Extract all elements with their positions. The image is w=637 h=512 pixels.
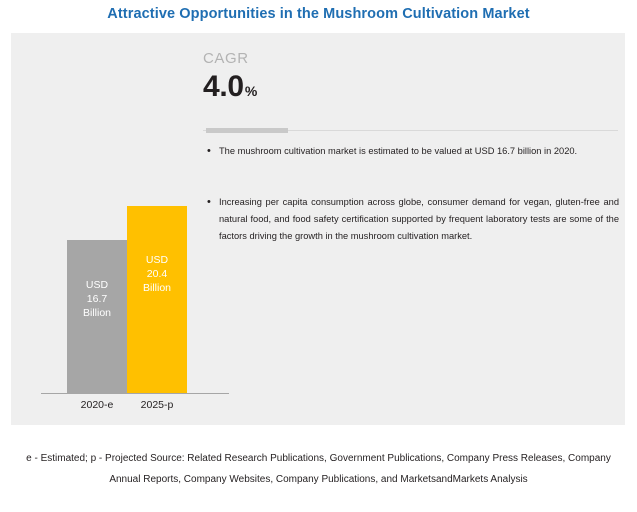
- bar-2025-p: USD 20.4 Billion: [127, 206, 187, 393]
- bullet-list: • The mushroom cultivation market is est…: [207, 143, 619, 245]
- cagr-unit: %: [245, 83, 257, 99]
- chart-x-axis: [41, 393, 229, 394]
- footer-source-note: e - Estimated; p - Projected Source: Rel…: [14, 448, 623, 490]
- cagr-label: CAGR: [203, 50, 433, 67]
- chart-plot-area: USD 16.7 Billion USD 20.4 Billion: [30, 163, 220, 393]
- tick-label-2025-p: 2025-p: [127, 399, 187, 411]
- list-item: • The mushroom cultivation market is est…: [207, 143, 619, 160]
- bar-2020-e: USD 16.7 Billion: [67, 240, 127, 393]
- cagr-value: 4.0: [203, 71, 244, 103]
- bar-value-label: USD 16.7 Billion: [83, 278, 111, 320]
- divider: [203, 128, 618, 134]
- cagr-value-row: 4.0 %: [203, 71, 433, 103]
- bullet-text: Increasing per capita consumption across…: [219, 194, 619, 245]
- content-panel: CAGR 4.0 % • The mushroom cultivation ma…: [11, 33, 625, 425]
- cagr-block: CAGR 4.0 %: [203, 50, 433, 103]
- bar-value-label: USD 20.4 Billion: [143, 253, 171, 295]
- page-title: Attractive Opportunities in the Mushroom…: [0, 6, 637, 22]
- bullet-icon: •: [207, 143, 219, 160]
- chart-x-tick-labels: 2020-e 2025-p: [30, 399, 220, 411]
- list-item: • Increasing per capita consumption acro…: [207, 194, 619, 245]
- bar-chart: USD 16.7 Billion USD 20.4 Billion 2020-e…: [30, 163, 220, 413]
- bullet-text: The mushroom cultivation market is estim…: [219, 143, 619, 160]
- divider-thick-segment: [206, 128, 288, 133]
- tick-label-2020-e: 2020-e: [67, 399, 127, 411]
